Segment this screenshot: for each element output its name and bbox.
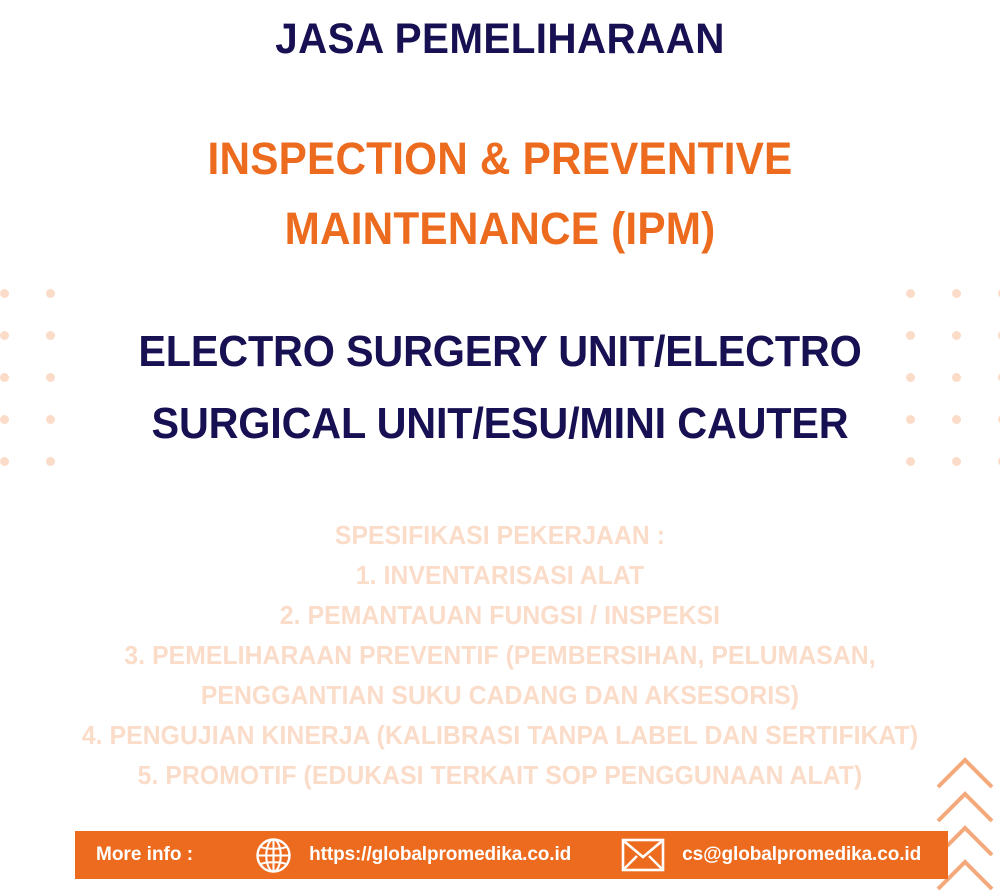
specification-heading: SPESIFIKASI PEKERJAAN :	[25, 515, 975, 555]
email-contact[interactable]: cs@globalpromedika.co.id	[621, 838, 921, 872]
more-info-label: More info :	[96, 844, 193, 866]
specification-list: SPESIFIKASI PEKERJAAN : 1. INVENTARISASI…	[0, 460, 1000, 795]
website-url[interactable]: https://globalpromedika.co.id	[309, 844, 571, 866]
list-item: 4. PENGUJIAN KINERJA (KALIBRASI TANPA LA…	[25, 715, 975, 755]
service-title-line-1: INSPECTION & PREVENTIVE	[208, 133, 793, 184]
service-title: INSPECTION & PREVENTIVE MAINTENANCE (IPM…	[30, 68, 970, 264]
page-title: JASA PEMELIHARAAN	[30, 0, 970, 68]
website-contact[interactable]: https://globalpromedika.co.id	[255, 837, 571, 874]
list-item: PENGGANTIAN SUKU CADANG DAN AKSESORIS)	[25, 675, 975, 715]
list-item: 1. INVENTARISASI ALAT	[25, 555, 975, 595]
list-item: 2. PEMANTAUAN FUNGSI / INSPEKSI	[25, 595, 975, 635]
contact-footer-bar: More info : https://globalpromedika.co.i…	[75, 831, 948, 879]
device-title: ELECTRO SURGERY UNIT/ELECTRO SURGICAL UN…	[30, 264, 970, 460]
poster-content: JASA PEMELIHARAAN INSPECTION & PREVENTIV…	[0, 0, 1000, 795]
list-item: 5. PROMOTIF (EDUKASI TERKAIT SOP PENGGUN…	[25, 755, 975, 795]
list-item: 3. PEMELIHARAAN PREVENTIF (PEMBERSIHAN, …	[25, 635, 975, 675]
service-title-line-2: MAINTENANCE (IPM)	[285, 203, 716, 254]
email-address[interactable]: cs@globalpromedika.co.id	[682, 844, 921, 866]
device-title-line-1: ELECTRO SURGERY UNIT/ELECTRO	[138, 327, 861, 376]
chevron-up-icon	[938, 794, 992, 821]
envelope-icon	[621, 838, 665, 872]
promotional-poster: JASA PEMELIHARAAN INSPECTION & PREVENTIV…	[0, 0, 1000, 893]
globe-icon	[255, 837, 292, 874]
device-title-line-2: SURGICAL UNIT/ESU/MINI CAUTER	[152, 399, 849, 448]
